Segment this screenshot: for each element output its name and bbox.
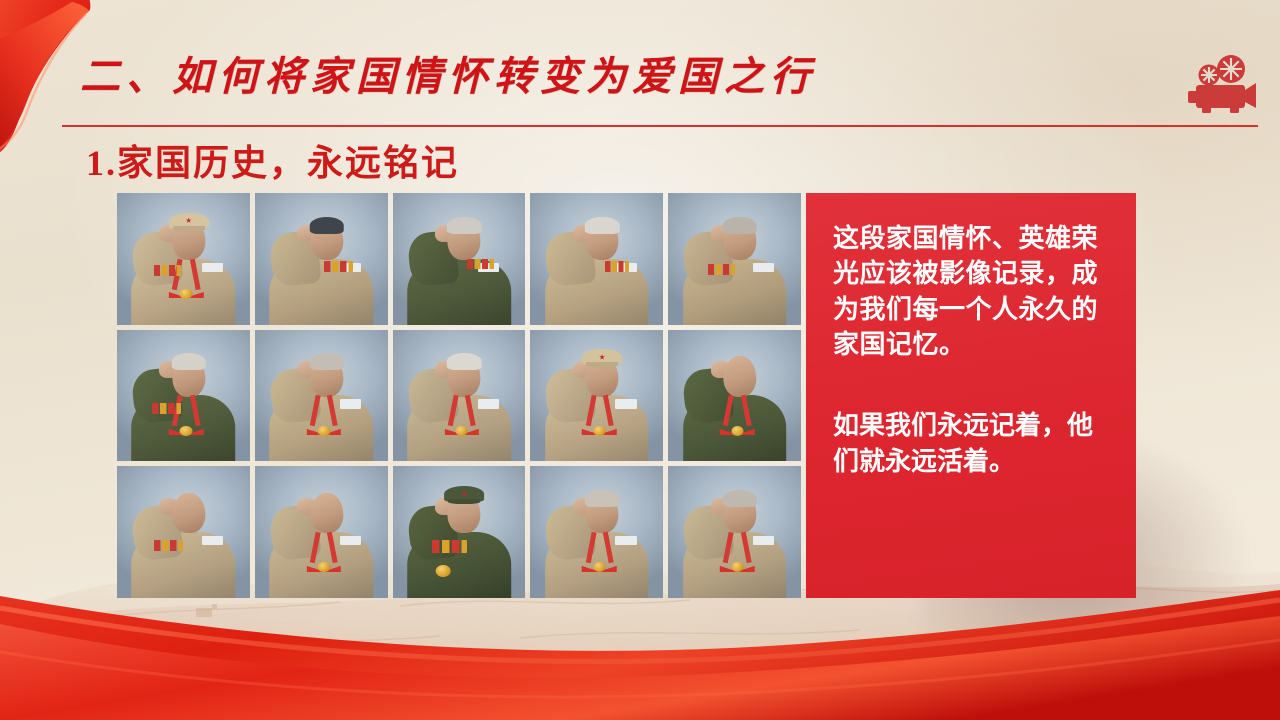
veteran-photo-12[interactable] — [255, 466, 388, 598]
quote-panel: 这段家国情怀、英雄荣光应该被影像记录，成为我们每一个人永久的家国记忆。 如果我们… — [806, 193, 1136, 598]
veteran-photo-14[interactable] — [530, 466, 663, 598]
veteran-photo-2[interactable] — [255, 193, 388, 325]
veteran-photo-5[interactable] — [668, 193, 801, 325]
veteran-photo-4[interactable] — [530, 193, 663, 325]
veteran-photo-grid — [117, 193, 801, 598]
veteran-photo-1[interactable] — [117, 193, 250, 325]
section-subtitle: 1.家国历史，永远铭记 — [86, 134, 459, 186]
presentation-slide: 二、如何将家国情怀转变为爱国之行 1.家国历史，永远铭记 — [0, 0, 1280, 720]
title-divider — [62, 125, 1258, 127]
veteran-photo-10[interactable] — [668, 330, 801, 462]
veteran-photo-11[interactable] — [117, 466, 250, 598]
veteran-photo-9[interactable] — [530, 330, 663, 462]
quote-paragraph-2: 如果我们永远记着，他们就永远活着。 — [833, 408, 1116, 479]
veteran-photo-8[interactable] — [393, 330, 526, 462]
veteran-photo-3[interactable] — [393, 193, 526, 325]
veteran-photo-7[interactable] — [255, 330, 388, 462]
quote-paragraph-1: 这段家国情怀、英雄荣光应该被影像记录，成为我们每一个人永久的家国记忆。 — [833, 221, 1116, 362]
film-projector-icon — [1186, 52, 1258, 114]
veteran-photo-13[interactable] — [393, 466, 526, 598]
veteran-photo-15[interactable] — [668, 466, 801, 598]
veteran-photo-6[interactable] — [117, 330, 250, 462]
page-title: 二、如何将家国情怀转变为爱国之行 — [80, 44, 816, 102]
